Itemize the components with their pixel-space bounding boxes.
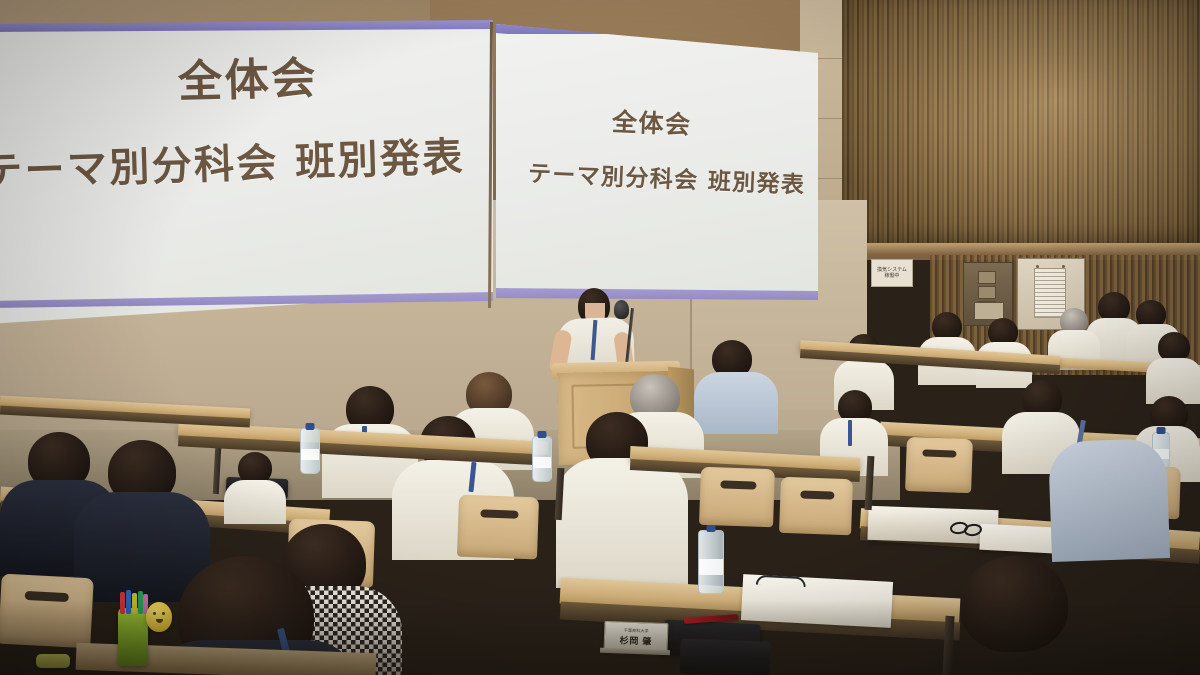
chair-back [699, 467, 775, 528]
attendee-torso [224, 480, 286, 524]
green-pen-case[interactable] [118, 608, 148, 666]
desk-leg [865, 456, 875, 510]
shoulder-bag[interactable] [679, 638, 770, 675]
chair-back [457, 495, 539, 560]
chair-back [0, 574, 94, 649]
wood-slat-wall [842, 0, 1200, 250]
lecture-hall-screenshot: 全体会 テーマ別分科会 班別発表 全体会 テーマ別分科会 班別発表 換気システム… [0, 0, 1200, 675]
sticky-note-pad[interactable] [36, 654, 70, 668]
name-plate-stand [600, 648, 670, 655]
av-control-panel[interactable] [963, 262, 1013, 326]
yellow-character-charm[interactable] [146, 602, 172, 632]
water-bottle[interactable] [698, 530, 724, 594]
attendee-head-foreground [960, 556, 1068, 652]
ventilation-sign-line2: 稼働中 [884, 273, 899, 279]
ventilation-status-sign: 換気システム 稼働中 [871, 259, 913, 287]
wood-slat-wall-base-trim [842, 243, 1200, 255]
water-bottle[interactable] [300, 428, 320, 474]
attendee-torso [1048, 438, 1170, 562]
chair-back [905, 437, 973, 493]
desk-leg [942, 616, 954, 675]
pen-cluster [120, 590, 148, 614]
name-plate-person: 杉岡 肇 [619, 633, 652, 647]
attendee-lanyard [848, 420, 852, 446]
water-bottle[interactable] [532, 436, 552, 482]
microphone-head [614, 300, 629, 319]
chair-back [779, 477, 853, 535]
attendee-torso [694, 372, 778, 434]
right-slide-title: 全体会 [611, 102, 692, 141]
attendee-torso-foreground [556, 458, 688, 588]
left-slide-title: 全体会 [177, 42, 319, 110]
